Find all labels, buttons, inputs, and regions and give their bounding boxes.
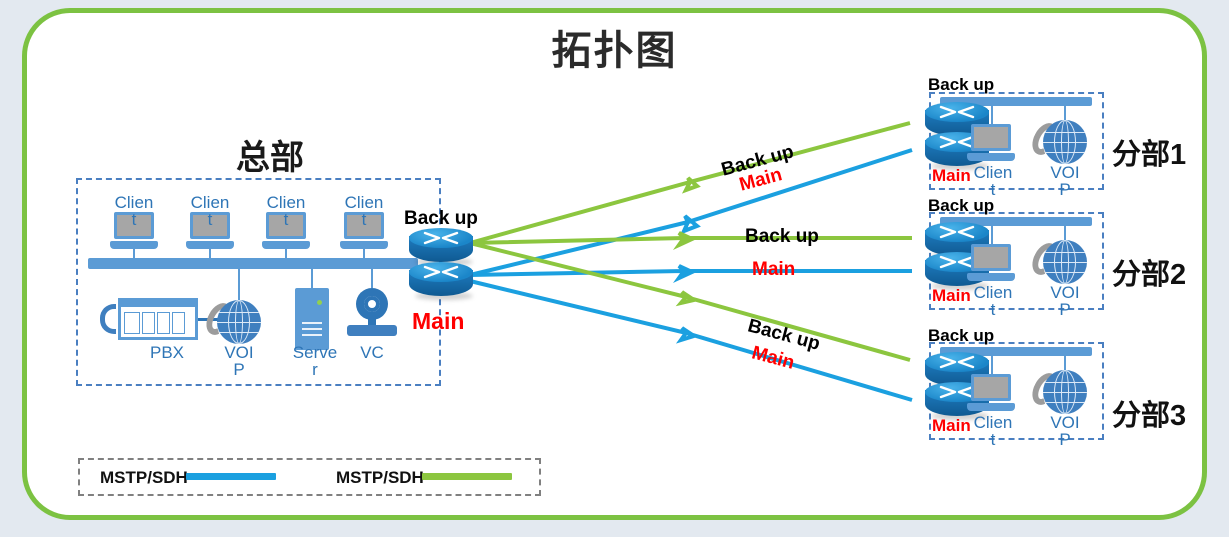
- link-backup-branch1: [470, 123, 910, 243]
- branch-3-name: 分部3: [1112, 392, 1186, 434]
- branch-1-voip-label: VOI P: [1030, 164, 1100, 198]
- router-arrows-icon: [423, 230, 459, 246]
- hq-voip-label-line2: P: [233, 360, 244, 379]
- router-arrows-icon: [939, 354, 975, 370]
- hq-router-backup-label: Back up: [404, 208, 478, 230]
- router-arrows-icon: [939, 104, 975, 120]
- topology-diagram: 拓扑图 Back up Main Back up Main Back up Ma…: [0, 0, 1229, 537]
- hq-client-stem-4: [363, 249, 365, 261]
- branch-3-router-backup-label: Back up: [928, 326, 994, 346]
- branch-2-router-backup-label: Back up: [928, 196, 994, 216]
- hq-router-main-label: Main: [412, 308, 464, 335]
- vc-label: VC: [342, 344, 402, 361]
- branch-2-client-label-line2: t: [991, 300, 996, 319]
- branch-3-voip-label-line2: P: [1059, 430, 1070, 449]
- branch-3-client-label: Clien t: [958, 414, 1028, 448]
- legend-label-1: MSTP/SDH: [100, 468, 188, 488]
- branch-1-voip-globe-icon: [1043, 120, 1087, 164]
- hq-client-label-3: Clien t: [248, 194, 324, 228]
- link-backup-branch2: [470, 233, 912, 245]
- pbx-label-line1: PBX: [150, 343, 184, 362]
- pbx-label: PBX: [132, 344, 202, 361]
- branch-3-voip-globe-icon: [1043, 370, 1087, 414]
- hq-client-label-1: Clien t: [96, 194, 172, 228]
- hq-voip-globe-icon: [217, 300, 261, 344]
- router-arrows-icon: [939, 134, 975, 150]
- server-label: Serve r: [280, 344, 350, 378]
- branch-2-voip-globe-icon: [1043, 240, 1087, 284]
- hq-router-main: [409, 262, 473, 302]
- hq-client-stem-2: [209, 249, 211, 261]
- hq-client-label-2-line2: t: [208, 210, 213, 229]
- branch-2-client-stem: [991, 224, 993, 244]
- link-backup-branch3: [470, 243, 910, 360]
- legend-label-2: MSTP/SDH: [336, 468, 424, 488]
- branch-1-name: 分部1: [1112, 131, 1186, 173]
- hq-vc-stem: [371, 266, 373, 288]
- vc-label-line1: VC: [360, 343, 384, 362]
- router-arrows-icon: [939, 254, 975, 270]
- hq-client-label-4: Clien t: [326, 194, 402, 228]
- legend-swatch-1: [186, 473, 276, 480]
- hq-client-label-1-line2: t: [132, 210, 137, 229]
- branch-2-name: 分部2: [1112, 251, 1186, 293]
- router-arrows-icon: [939, 224, 975, 240]
- hq-title: 总部: [180, 130, 360, 179]
- hq-voip-stem: [238, 266, 240, 302]
- hq-backbone-bus: [88, 258, 418, 269]
- branch-1-client-label: Clien t: [958, 164, 1028, 198]
- link-main-branch1: [470, 150, 912, 275]
- branch-1-voip-label-line2: P: [1059, 180, 1070, 199]
- server-label-line2: r: [312, 360, 318, 379]
- link-label-main-branch2: Main: [752, 259, 795, 281]
- link-label-backup-branch2: Back up: [745, 226, 819, 248]
- hq-server-stem: [311, 266, 313, 288]
- link-main-branch2: [470, 266, 912, 278]
- branch-2-client-label: Clien t: [958, 284, 1028, 318]
- legend-swatch-2: [422, 473, 512, 480]
- branch-2-voip-label: VOI P: [1030, 284, 1100, 318]
- hq-client-label-2: Clien t: [172, 194, 248, 228]
- hq-voip-label: VOI P: [204, 344, 274, 378]
- hq-client-label-4-line2: t: [362, 210, 367, 229]
- branch-3-client-label-line2: t: [991, 430, 996, 449]
- hq-client-stem-3: [285, 249, 287, 261]
- server-icon: [295, 288, 329, 350]
- branch-1-router-backup-label: Back up: [928, 75, 994, 95]
- branch-3-voip-label: VOI P: [1030, 414, 1100, 448]
- branch-2-voip-label-line2: P: [1059, 300, 1070, 319]
- hq-client-label-3-line2: t: [284, 210, 289, 229]
- router-arrows-icon: [423, 264, 459, 280]
- hq-client-stem-1: [133, 249, 135, 261]
- branch-1-client-stem: [991, 104, 993, 124]
- router-arrows-icon: [939, 384, 975, 400]
- branch-3-client-stem: [991, 354, 993, 374]
